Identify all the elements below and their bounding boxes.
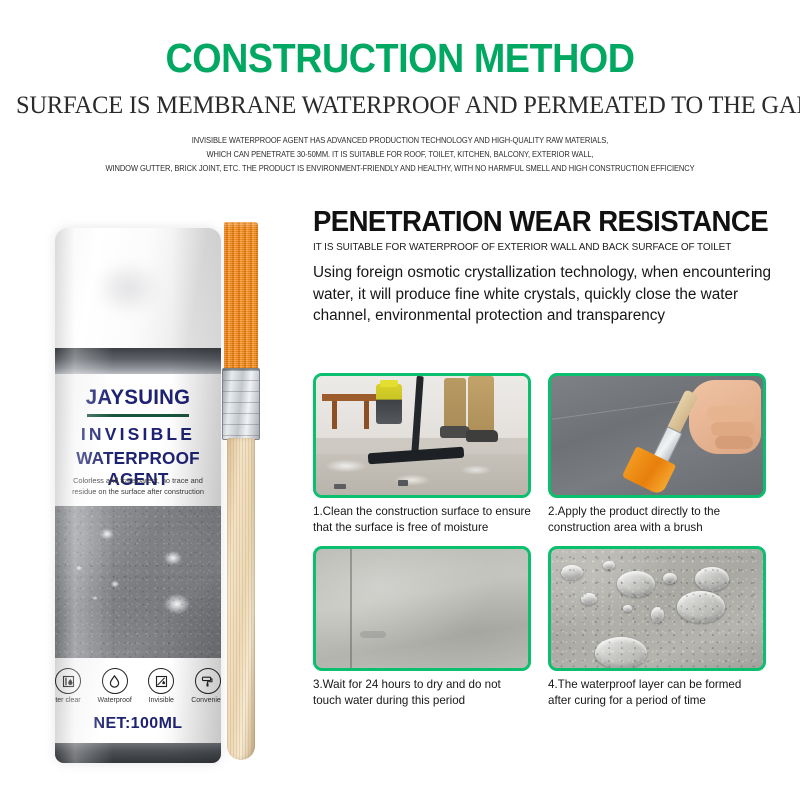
brush-bristles: [224, 222, 258, 370]
feature-convenient: Convenien: [188, 668, 221, 704]
bottle-cap-area: [55, 228, 221, 348]
feature-section: PENETRATION WEAR RESISTANCE IT IS SUITAB…: [313, 208, 800, 327]
fineprint-line-1: INVISIBLE WATERPROOF AGENT HAS ADVANCED …: [28, 134, 772, 148]
step-item-3: 3.Wait for 24 hours to dry and do not to…: [313, 546, 531, 709]
step-item-1: 1.Clean the construction surface to ensu…: [313, 373, 531, 536]
feature-waterproof: Waterproof: [95, 668, 135, 704]
product-description: Colorless and transparent, no trace and …: [61, 476, 215, 497]
floor-cleaning-squeegee-photo: [313, 373, 531, 498]
bottle-base: [55, 743, 221, 763]
section-body-text: Using foreign osmotic crystallization te…: [313, 262, 785, 327]
feature-label: Invisible: [141, 697, 181, 704]
feature-label: Convenien: [188, 697, 221, 704]
page-header: CONSTRUCTION METHOD SURFACE IS MEMBRANE …: [0, 0, 800, 176]
step-caption: 2.Apply the product directly to the cons…: [548, 504, 766, 536]
paint-brush: [218, 222, 264, 762]
drying-concrete-floor-photo: [313, 546, 531, 671]
feature-invisible: Invisible: [141, 668, 181, 704]
product-name-line-1: INVISIBLE: [55, 424, 221, 445]
step-caption: 1.Clean the construction surface to ensu…: [313, 504, 531, 536]
brush-handle: [227, 438, 255, 760]
brand-underline: [87, 414, 189, 417]
product-feature-icons: ter clear Waterproof: [55, 668, 221, 704]
section-subtitle: IT IS SUITABLE FOR WATERPROOF OF EXTERIO…: [313, 242, 785, 253]
brush-ferrule: [222, 368, 260, 440]
fineprint-line-2: WHICH CAN PENETRATE 30-50MM. IT IS SUITA…: [28, 148, 772, 162]
header-fineprint: INVISIBLE WATERPROOF AGENT HAS ADVANCED …: [28, 134, 772, 176]
step-item-2: 2.Apply the product directly to the cons…: [548, 373, 766, 536]
feature-water-clear: ter clear: [55, 668, 88, 704]
bottle-dark-band: [55, 348, 221, 374]
step-caption: 3.Wait for 24 hours to dry and do not to…: [313, 677, 531, 709]
step-item-4: 4.The waterproof layer can be formed aft…: [548, 546, 766, 709]
bottle-label-droplet-photo: [55, 506, 221, 658]
section-title: PENETRATION WEAR RESISTANCE: [313, 208, 776, 237]
steps-grid: 1.Clean the construction surface to ensu…: [313, 373, 800, 709]
water-drop-icon: [102, 668, 128, 694]
water-clear-icon: [55, 668, 81, 694]
fineprint-line-3: WINDOW GUTTER, BRICK JOINT, ETC. THE PRO…: [28, 162, 772, 176]
feature-label: ter clear: [55, 697, 88, 704]
feature-label: Waterproof: [95, 697, 135, 704]
water-beading-concrete-photo: [548, 546, 766, 671]
brand-name: JAYSUING: [57, 386, 218, 410]
page-subtitle: SURFACE IS MEMBRANE WATERPROOF AND PERME…: [16, 90, 784, 120]
step-caption: 4.The waterproof layer can be formed aft…: [548, 677, 766, 709]
invisible-surface-icon: [148, 668, 174, 694]
product-bottle: JAYSUING INVISIBLE WATERPROOF AGENT Colo…: [55, 228, 221, 763]
net-volume: NET:100ML: [55, 715, 221, 733]
product-showcase: JAYSUING INVISIBLE WATERPROOF AGENT Colo…: [0, 208, 300, 800]
page-title: CONSTRUCTION METHOD: [32, 38, 768, 79]
hand-applying-brush-photo: [548, 373, 766, 498]
